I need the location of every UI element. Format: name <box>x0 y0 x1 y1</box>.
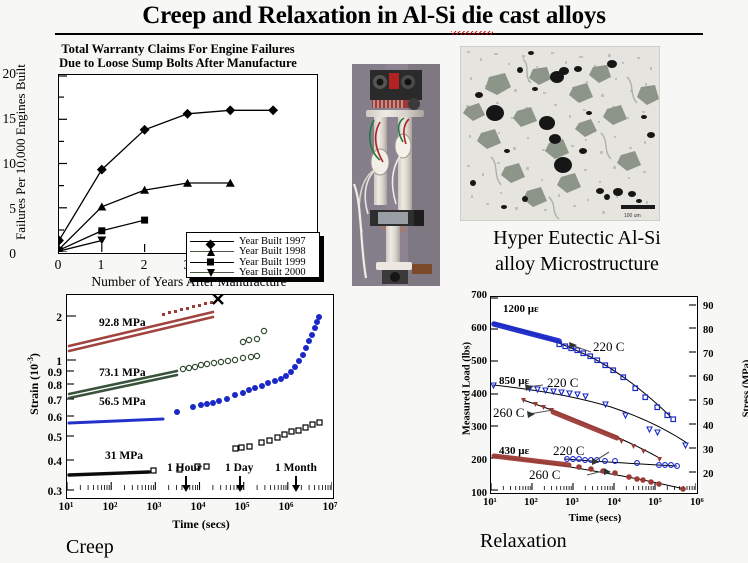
legend-label-1998: Year Built 1998 <box>239 246 306 257</box>
scalebar <box>621 205 655 209</box>
relax-series-svg <box>491 297 696 492</box>
relax-y2-axis-title: Stress (MPa) <box>742 314 748 464</box>
micro-caption-line2: alloy Microstructure <box>452 251 702 277</box>
relax-ytick-200: 200 <box>461 455 487 466</box>
relax-y2tick-40: 40 <box>703 421 727 432</box>
title-underline <box>55 33 703 35</box>
warranty-ytick-5: 5 <box>0 201 16 217</box>
legend-item-1999[interactable]: Year Built 1999 <box>187 257 319 268</box>
relax-y2tick-20: 20 <box>703 469 727 480</box>
creep-arrow-1-month <box>295 476 297 486</box>
relax-y2tick-30: 30 <box>703 445 727 456</box>
legend-line-1998 <box>190 251 234 252</box>
relax-xtick-1e6: 10⁶ <box>685 497 709 508</box>
creep-label-56.5mpa: 56.5 MPa <box>99 396 146 408</box>
creep-caption: Creep <box>66 536 206 559</box>
rig-photo-graphic <box>352 64 440 286</box>
warranty-title-line2: Due to Loose Sump Bolts After Manufactur… <box>18 56 338 70</box>
warranty-xtick-0: 0 <box>48 257 68 273</box>
legend-label-2000: Year Built 2000 <box>239 267 306 278</box>
creep-xtick-1e3: 10³ <box>141 501 167 513</box>
creep-xtick-1e7: 10⁷ <box>317 501 343 513</box>
page-title: Creep and Relaxation in Al-Si die cast a… <box>0 2 748 30</box>
legend-line-2000 <box>190 272 234 273</box>
chart-relaxation: Measured Load (lbs) Stress (MPa) Time (s… <box>440 288 748 563</box>
warranty-ytick-0: 0 <box>0 246 16 262</box>
warranty-xtick-2: 2 <box>134 257 154 273</box>
relax-ytick-300: 300 <box>461 422 487 433</box>
relax-xtick-1e2: 10² <box>519 497 543 508</box>
svg-text:100 um: 100 um <box>624 213 641 219</box>
legend-item-2000[interactable]: Year Built 2000 <box>187 268 319 279</box>
legend-label-1999: Year Built 1999 <box>239 257 306 268</box>
relax-annot-260c-850: 260 C <box>493 405 524 421</box>
micro-caption-line1: Hyper Eutectic Al-Si <box>452 225 702 251</box>
creep-annot-1-month: 1 Month <box>275 462 317 474</box>
creep-xtick-1e2: 10² <box>97 501 123 513</box>
relax-y2tick-70: 70 <box>703 349 727 360</box>
creep-ytick-0.3: 0.3 <box>34 486 62 498</box>
relax-annot-260c-430: 260 C <box>529 467 560 483</box>
microstructure-graphic: 100 um <box>461 47 660 221</box>
square-marker-icon <box>207 259 214 266</box>
creep-xtick-1e1: 10¹ <box>53 501 79 513</box>
creep-annot-1-day: 1 Day <box>225 462 253 474</box>
creep-ytick-2: 2 <box>34 312 62 324</box>
relax-annot-430ue: 430 με <box>499 445 529 457</box>
creep-arrow-1-hour <box>185 476 187 486</box>
warranty-ytick-20: 20 <box>0 66 16 82</box>
creep-ytick-0.4: 0.4 <box>34 456 62 468</box>
creep-xtick-1e4: 10⁴ <box>185 501 211 513</box>
relax-xtick-1e3: 10³ <box>560 497 584 508</box>
warranty-ytick-10: 10 <box>0 156 16 172</box>
relax-annot-1200ue: 1200 με <box>503 303 539 315</box>
triangle-down-marker-icon <box>207 269 215 277</box>
chart-creep: Strain (10-3) Time (secs) 0.3 0.4 0.5 0.… <box>18 288 348 563</box>
creep-label-92.8mpa: 92.8 MPa <box>99 317 146 329</box>
relax-xtick-1e4: 10⁴ <box>602 497 626 508</box>
warranty-legend[interactable]: Year Built 1997 Year Built 1998 Year Bui… <box>186 232 320 278</box>
legend-line-1999 <box>190 262 234 263</box>
microstructure-photo: 100 um <box>460 46 660 221</box>
relax-annot-220c-1200: 220 C <box>593 339 624 355</box>
relax-x-axis-title: Time (secs) <box>490 512 700 524</box>
relax-y2tick-80: 80 <box>703 325 727 336</box>
relax-y2tick-90: 90 <box>703 301 727 312</box>
relax-y2tick-60: 60 <box>703 373 727 384</box>
warranty-title-line1: Total Warranty Claims For Engine Failure… <box>18 42 338 56</box>
creep-xtick-1e5: 10⁵ <box>229 501 255 513</box>
relax-ytick-500: 500 <box>461 356 487 367</box>
warranty-chart-title: Total Warranty Claims For Engine Failure… <box>18 42 338 70</box>
creep-ytick-0.7: 0.7 <box>34 395 62 407</box>
spellcheck-squiggle <box>451 31 493 35</box>
triangle-up-marker-icon <box>207 248 215 256</box>
creep-label-73.1mpa: 73.1 MPa <box>99 367 146 379</box>
legend-item-1998[interactable]: Year Built 1998 <box>187 247 319 258</box>
creep-arrow-1-day <box>239 476 241 486</box>
legend-label-1997: Year Built 1997 <box>239 236 306 247</box>
creep-ytick-0.5: 0.5 <box>34 432 62 444</box>
relax-xtick-1e5: 10⁵ <box>643 497 667 508</box>
microstructure-caption: Hyper Eutectic Al-Si alloy Microstructur… <box>452 225 702 277</box>
chart-warranty-claims: Total Warranty Claims For Engine Failure… <box>0 42 340 292</box>
relaxation-caption: Relaxation <box>480 530 660 553</box>
legend-line-1997 <box>190 241 234 242</box>
warranty-series-svg <box>59 75 316 252</box>
creep-label-31mpa: 31 MPa <box>105 450 143 462</box>
relax-annot-220c-850: 220 C <box>547 375 578 391</box>
creep-xtick-1e6: 10⁶ <box>273 501 299 513</box>
warranty-plot-area <box>58 74 318 254</box>
relax-annot-220c-430: 220 C <box>553 443 584 459</box>
relax-ytick-600: 600 <box>461 323 487 334</box>
relax-ytick-700: 700 <box>461 290 487 301</box>
creep-x-axis-title: Time (secs) <box>66 517 336 532</box>
warranty-xtick-1: 1 <box>91 257 111 273</box>
relax-annot-850ue: 850 με <box>499 375 529 387</box>
creep-ytick-1: 1 <box>34 356 62 368</box>
warranty-ytick-15: 15 <box>0 111 16 127</box>
relax-ytick-400: 400 <box>461 389 487 400</box>
relax-plot-area: 1200 με 850 με 430 με 220 C 220 C 260 C … <box>490 296 698 494</box>
bolt-test-rig-photo <box>352 64 440 286</box>
creep-ytick-0.9: 0.9 <box>34 367 62 379</box>
creep-ytick-0.8: 0.8 <box>34 380 62 392</box>
relax-y2tick-50: 50 <box>703 397 727 408</box>
creep-annot-1-hour: 1 Hour <box>167 462 202 474</box>
creep-plot-area: 92.8 MPa 73.1 MPa 56.5 MPa 31 MPa 1 Hour… <box>66 294 334 499</box>
legend-item-1997[interactable]: Year Built 1997 <box>187 236 319 247</box>
relax-xtick-1e1: 10¹ <box>478 497 502 508</box>
creep-ytick-0.6: 0.6 <box>34 412 62 424</box>
